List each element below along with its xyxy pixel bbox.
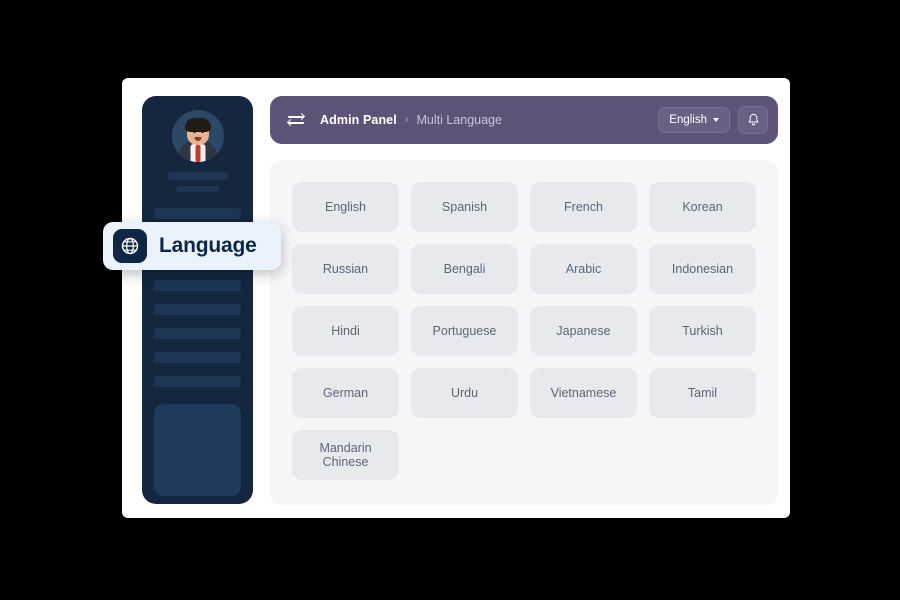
- language-selector[interactable]: English: [658, 107, 730, 133]
- language-tile[interactable]: Vietnamese: [530, 368, 637, 418]
- notification-button[interactable]: [738, 106, 768, 134]
- language-tile[interactable]: Urdu: [411, 368, 518, 418]
- breadcrumb-root[interactable]: Admin Panel: [320, 113, 397, 127]
- avatar-tie: [195, 145, 200, 162]
- avatar-eye-right: [201, 130, 204, 133]
- avatar-hair: [185, 118, 211, 132]
- language-tile[interactable]: Bengali: [411, 244, 518, 294]
- page-background: Admin Panel › Multi Language English Eng…: [0, 0, 900, 600]
- language-badge-label: Language: [159, 234, 257, 258]
- skeleton-bar: [154, 328, 241, 339]
- swap-arrows-icon[interactable]: [288, 113, 304, 127]
- skeleton-bar-name: [168, 172, 228, 180]
- language-tile[interactable]: Russian: [292, 244, 399, 294]
- language-tile[interactable]: Tamil: [649, 368, 756, 418]
- avatar-circle: [172, 110, 224, 162]
- skeleton-bar: [154, 376, 241, 387]
- header-bar: Admin Panel › Multi Language English: [270, 96, 778, 144]
- language-panel: EnglishSpanishFrenchKoreanRussianBengali…: [270, 160, 778, 505]
- chevron-down-icon: [713, 118, 719, 122]
- language-tile[interactable]: English: [292, 182, 399, 232]
- language-tile[interactable]: Japanese: [530, 306, 637, 356]
- skeleton-bar-subtitle: [176, 186, 220, 192]
- language-tile[interactable]: Mandarin Chinese: [292, 430, 399, 480]
- language-tile[interactable]: Korean: [649, 182, 756, 232]
- avatar-eye-left: [193, 130, 196, 133]
- bell-icon: [747, 113, 760, 127]
- language-tile[interactable]: Spanish: [411, 182, 518, 232]
- breadcrumb-current: Multi Language: [416, 113, 501, 127]
- sidebar-widget-placeholder: [154, 404, 241, 496]
- sidebar: [142, 96, 253, 504]
- language-tile[interactable]: Portuguese: [411, 306, 518, 356]
- skeleton-bar: [154, 208, 241, 219]
- language-tile[interactable]: Indonesian: [649, 244, 756, 294]
- skeleton-bar: [154, 304, 241, 315]
- header-actions: English: [658, 106, 768, 134]
- avatar: [172, 110, 224, 162]
- skeleton-bar: [154, 352, 241, 363]
- skeleton-bar: [154, 280, 241, 291]
- language-selector-label: English: [669, 114, 707, 126]
- breadcrumb-separator: ›: [405, 114, 409, 126]
- language-badge[interactable]: Language: [103, 222, 281, 270]
- language-tile[interactable]: Hindi: [292, 306, 399, 356]
- language-tile[interactable]: German: [292, 368, 399, 418]
- language-tile[interactable]: Arabic: [530, 244, 637, 294]
- language-tile[interactable]: Turkish: [649, 306, 756, 356]
- breadcrumb: Admin Panel › Multi Language: [320, 113, 502, 127]
- language-grid: EnglishSpanishFrenchKoreanRussianBengali…: [292, 182, 756, 480]
- globe-icon: [120, 236, 140, 256]
- language-tile[interactable]: French: [530, 182, 637, 232]
- globe-icon-container: [113, 229, 147, 263]
